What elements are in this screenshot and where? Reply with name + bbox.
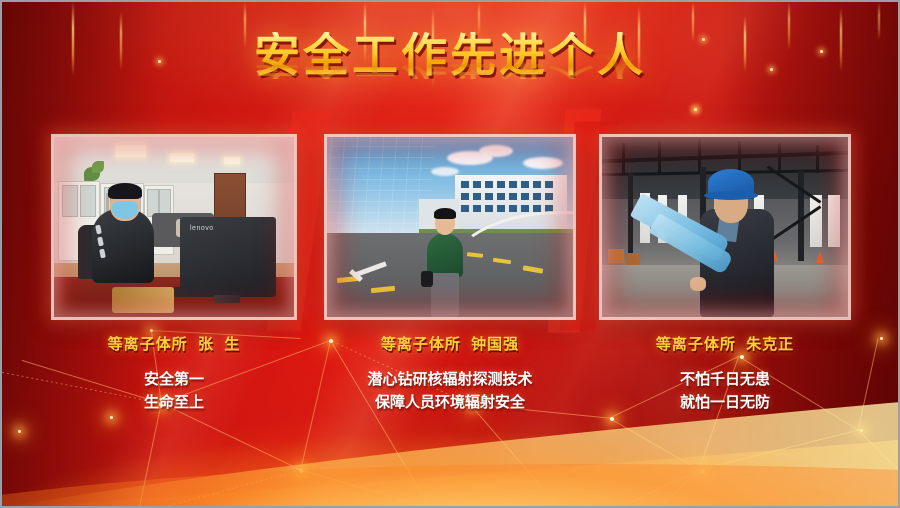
honoree-slogan: 安全第一 生命至上: [34, 369, 314, 414]
network-node-icon: [740, 355, 744, 359]
slide-canvas: 安全工作先进个人 安全工作先进个人: [0, 0, 900, 508]
honoree-name: 等离子体所 张 生: [54, 333, 294, 354]
slogan-line: 安全第一: [34, 369, 314, 392]
honoree-card[interactable]: lenovo 等离子体所 张 生 安全第一 生命至上: [54, 137, 294, 317]
slogan-line: 潜心钻研核辐射探测技术: [310, 369, 590, 392]
network-node-icon: [610, 417, 614, 421]
network-node-icon: [150, 329, 153, 332]
slogan-line: 就怕一日无防: [585, 392, 865, 415]
honoree-name: 等离子体所 朱克正: [602, 333, 848, 354]
network-node-icon: [299, 469, 303, 473]
network-node-icon: [860, 429, 863, 432]
honoree-slogan: 潜心钻研核辐射探测技术 保障人员环境辐射安全: [310, 369, 590, 414]
honoree-photo: [602, 137, 848, 317]
slogan-line: 生命至上: [34, 392, 314, 415]
photo-warehouse-scene: [602, 137, 848, 317]
network-node-icon: [110, 416, 113, 419]
photo-office-scene: lenovo: [54, 137, 294, 317]
title-reflection: 安全工作先进个人: [254, 50, 646, 79]
honoree-slogan: 不怕千日无患 就怕一日无防: [585, 369, 865, 414]
network-node-icon: [880, 337, 883, 340]
honoree-name: 等离子体所 钟国强: [327, 333, 573, 354]
slogan-line: 保障人员环境辐射安全: [310, 392, 590, 415]
honoree-photo: [327, 137, 573, 317]
page-title: 安全工作先进个人 安全工作先进个人: [2, 32, 898, 125]
network-node-icon: [700, 469, 705, 474]
honoree-card[interactable]: 等离子体所 钟国强 潜心钻研核辐射探测技术 保障人员环境辐射安全: [327, 137, 573, 317]
slogan-line: 不怕千日无患: [585, 369, 865, 392]
honoree-card[interactable]: 等离子体所 朱克正 不怕千日无患 就怕一日无防: [602, 137, 848, 317]
photo-campus-road-scene: [327, 137, 573, 317]
honoree-photo: lenovo: [54, 137, 294, 317]
network-node-icon: [18, 430, 21, 433]
